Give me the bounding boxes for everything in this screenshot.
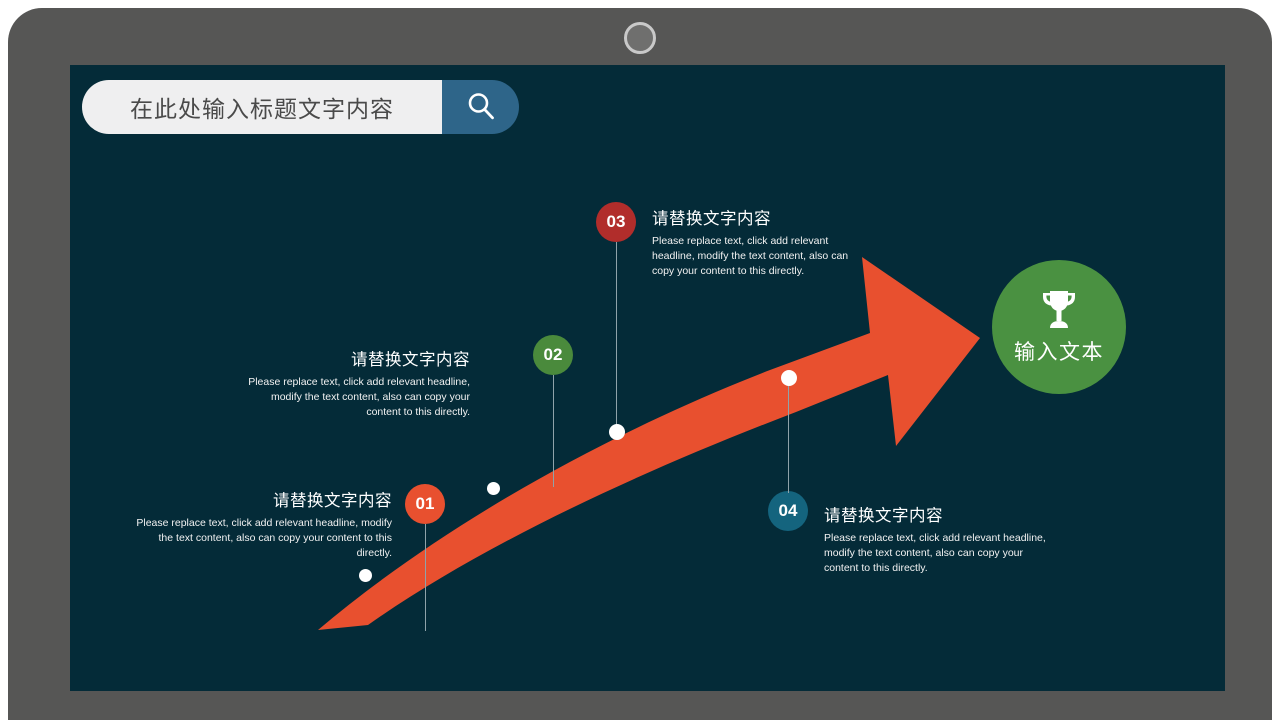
- node-body-04: Please replace text, click add relevant …: [824, 531, 1046, 576]
- node-number-04: 04: [779, 501, 798, 521]
- node-title-02: 请替换文字内容: [242, 349, 470, 371]
- arrow-dot-04: [781, 370, 797, 386]
- node-body-02: Please replace text, click add relevant …: [242, 375, 470, 420]
- node-marker-01[interactable]: 01: [405, 484, 445, 524]
- slide-screen: 在此处输入标题文字内容 请替换文字内容 Please replace text,…: [70, 65, 1225, 691]
- node-number-03: 03: [607, 212, 626, 232]
- node-marker-02[interactable]: 02: [533, 335, 573, 375]
- node-label-03: 请替换文字内容 Please replace text, click add r…: [652, 208, 864, 279]
- node-label-04: 请替换文字内容 Please replace text, click add r…: [824, 505, 1046, 576]
- goal-label: 输入文本: [1014, 336, 1104, 366]
- node-number-01: 01: [416, 494, 435, 514]
- node-label-01: 请替换文字内容 Please replace text, click add r…: [132, 490, 392, 561]
- node-number-02: 02: [544, 345, 563, 365]
- arrow-dot-02: [487, 482, 500, 495]
- arrow-dot-01: [359, 569, 372, 582]
- node-title-03: 请替换文字内容: [652, 208, 864, 230]
- node-marker-03[interactable]: 03: [596, 202, 636, 242]
- goal-badge[interactable]: 输入文本: [992, 260, 1126, 394]
- connector-03: [616, 242, 617, 426]
- node-body-01: Please replace text, click add relevant …: [132, 516, 392, 561]
- node-title-04: 请替换文字内容: [824, 505, 1046, 527]
- connector-04: [788, 381, 789, 493]
- trophy-icon: [1035, 288, 1083, 332]
- laptop-frame: 在此处输入标题文字内容 请替换文字内容 Please replace text,…: [8, 8, 1272, 720]
- node-label-02: 请替换文字内容 Please replace text, click add r…: [242, 349, 470, 420]
- arrow-dot-03: [609, 424, 625, 440]
- camera-icon: [624, 22, 656, 54]
- connector-01: [425, 524, 426, 631]
- arrow-infographic: 请替换文字内容 Please replace text, click add r…: [70, 65, 1225, 691]
- node-body-03: Please replace text, click add relevant …: [652, 234, 864, 279]
- node-marker-04[interactable]: 04: [768, 491, 808, 531]
- node-title-01: 请替换文字内容: [132, 490, 392, 512]
- connector-02: [553, 375, 554, 487]
